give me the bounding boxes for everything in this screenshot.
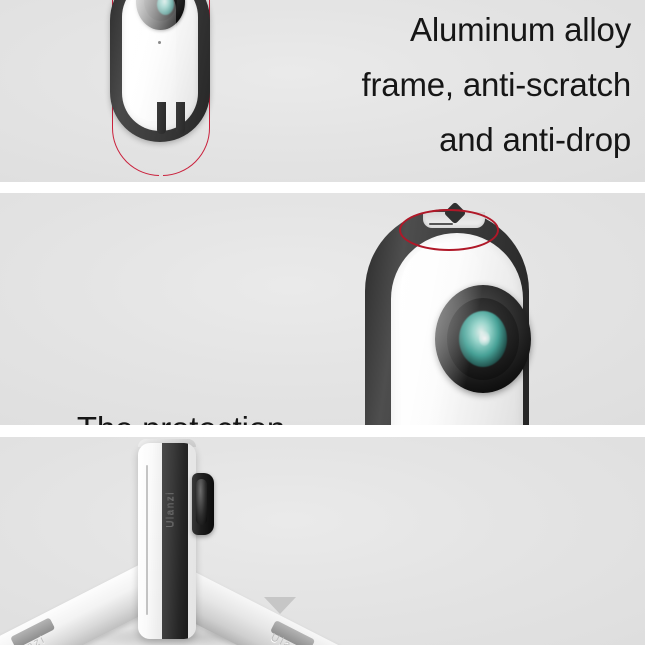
caption-line: The protection <box>26 401 336 425</box>
caption-line: frame, anti-scratch <box>362 57 631 112</box>
panel-1-caption: Aluminum alloy frame, anti-scratch and a… <box>362 2 631 167</box>
camera-side-body: Ulanzi <box>138 443 196 639</box>
lens-glint-icon <box>459 311 507 367</box>
frame-prong-right <box>176 102 185 134</box>
angle-marker-icon <box>264 597 296 614</box>
panel-aluminum-alloy-frame: Aluminum alloy frame, anti-scratch and a… <box>0 0 645 182</box>
microphone-dot-icon <box>158 41 161 44</box>
tripod-photo: Ulanzi Ulanzi Ulanzi <box>0 437 370 645</box>
panel-background <box>0 193 645 425</box>
panel-adjustable-angle: Ulanzi Ulanzi Ulanzi The angle can be ad… <box>0 437 645 645</box>
lens-glint-icon <box>157 0 174 15</box>
camera-spine <box>162 443 188 639</box>
protective-frame <box>110 0 210 142</box>
camera-closeup-photo <box>355 201 535 425</box>
caption-line: Aluminum alloy <box>362 2 631 57</box>
lens-inner-ring <box>447 298 519 380</box>
body-engraving: Ulanzi <box>165 491 185 528</box>
camera-lens-side <box>192 473 214 535</box>
product-infographic: Aluminum alloy frame, anti-scratch and a… <box>0 0 645 645</box>
lens-spark-icon <box>479 331 490 346</box>
panel-divider-2 <box>0 425 645 437</box>
caption-line: and anti-drop <box>362 112 631 167</box>
camera-front-photo <box>96 0 224 182</box>
camera-lens <box>435 285 531 393</box>
camera-body <box>391 233 523 425</box>
panel-2-caption: The protection frame reserves the radio … <box>26 401 336 425</box>
body-seam <box>146 465 148 615</box>
frame-prong-left <box>157 102 166 134</box>
camera-lens <box>136 0 185 30</box>
panel-radio-hole: The protection frame reserves the radio … <box>0 193 645 425</box>
red-highlight-ellipse <box>399 209 499 251</box>
lens-inner-ring <box>144 0 177 21</box>
panel-divider-1 <box>0 182 645 193</box>
